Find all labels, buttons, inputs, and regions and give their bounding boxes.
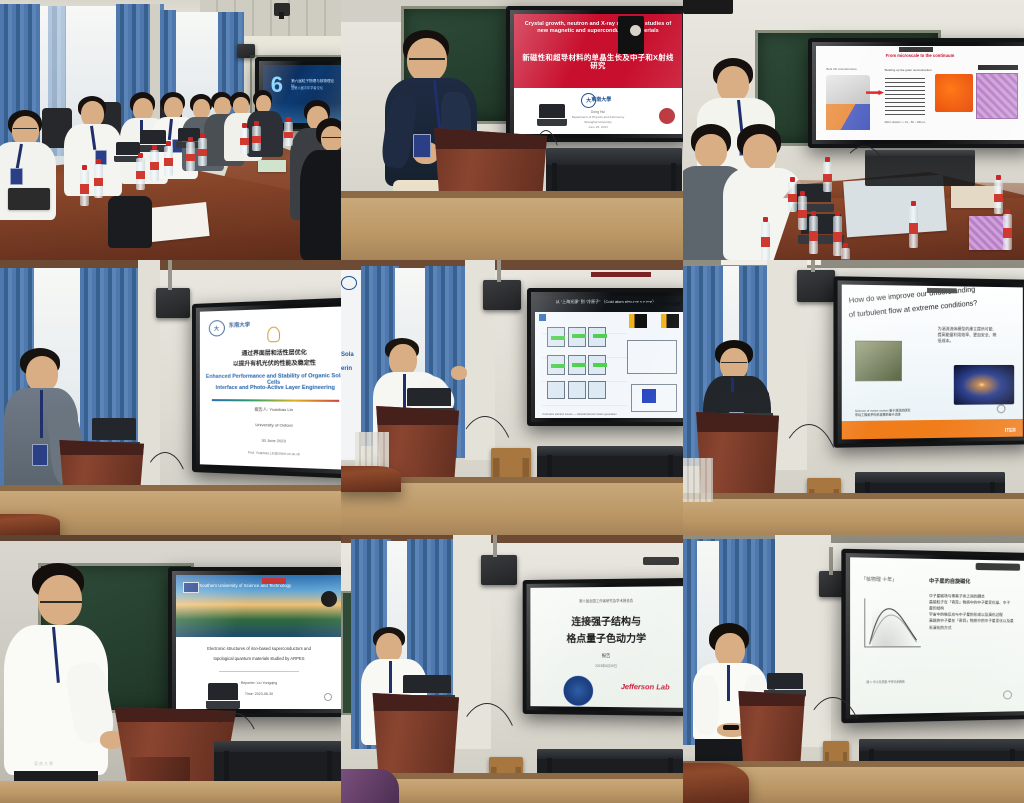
slide-hadron: 第十届全国工作者研究会学术报告会 连接强子结构与 格点量子色动力学 报告 202… <box>530 586 683 708</box>
photo-speaker-organic-solar: 大 东南大学 通过界面层和活性层优化 以提升有机光伏的性能及稳定性 Enhanc… <box>0 260 341 535</box>
display-screen: 大 东南大学 通过界面层和活性层优化 以提升有机光伏的性能及稳定性 Enhanc… <box>192 297 341 479</box>
attendee <box>308 118 341 260</box>
display-screen: Southern University of Science and Techn… <box>168 567 341 717</box>
wall-speaker-icon <box>481 555 517 585</box>
slide-presenter-cn: 报告 <box>539 653 674 659</box>
water-bottle <box>841 248 850 260</box>
collage-panel-middle-left[interactable]: 大 东南大学 通过界面层和活性层优化 以提升有机光伏的性能及稳定性 Enhanc… <box>0 260 341 535</box>
photo-speaker-hadron: 第十届全国工作者研究会学术报告会 连接强子结构与 格点量子色动力学 报告 202… <box>341 535 683 803</box>
display-screen: Crystal growth, neutron and X-ray scatte… <box>506 6 683 142</box>
slide-header-cn: 第十届全国工作者研究会学术报告会 <box>539 598 674 603</box>
slide-title-cn-1: 连接强子结构与 <box>536 617 677 629</box>
water-bottle <box>909 206 918 248</box>
slide-banner-org: Southern University of Science and Techn… <box>199 583 291 588</box>
glasses-icon <box>40 601 82 603</box>
collage-panel-bottom-center[interactable]: 第十届全国工作者研究会学术报告会 连接强子结构与 格点量子色动力学 报告 202… <box>341 535 683 803</box>
photo-speaker-cold-atom: Sola erin 从 “上海光源” 到 “冷原子” （Cold atom el… <box>341 260 683 535</box>
slide-title-cn: 新磁性和超导材料的单晶生长及中子和X射线研究 <box>521 54 676 71</box>
photo-speaker-neutron-star: 「核物理 十年」 中子星的自旋磁化 中子星磁场与等离子体之间的耦合 高能粒子在「… <box>683 535 1024 803</box>
slide-cold-atom: 从 “上海光源” 到 “冷原子” （Cold atom electron sou… <box>535 296 683 418</box>
slide-title-cn-2: 格点量子色动力学 <box>536 634 677 646</box>
slide-university: 东南大学 <box>229 321 250 329</box>
slide-header-cn: 「核物理 十年」 <box>861 576 897 583</box>
wall-speaker-icon <box>156 288 190 318</box>
glasses-icon <box>409 58 445 60</box>
slide-title-cn-1: 通过界面层和活性层优化 <box>206 349 341 358</box>
name-badge <box>32 444 48 466</box>
slide-title-en-2: topological quantum materials studied by… <box>183 657 336 662</box>
wall-speaker-icon <box>797 270 835 302</box>
glasses-icon <box>721 362 747 363</box>
slide-caption-mid: Building up the grain reconstruction <box>885 68 932 72</box>
slide-title-cn-2: 以提升有机光伏的性能及稳定性 <box>206 360 341 368</box>
collage-panel-top-right[interactable]: From microscale to the continuum Bulk 3D… <box>683 0 1024 260</box>
presenter-remote-icon <box>723 725 739 730</box>
slide-affiliation: University of Oxford <box>208 422 341 430</box>
display-screen: How do we improve our understanding of t… <box>833 276 1024 448</box>
slide-turbulence: How do we improve our understanding of t… <box>842 285 1023 440</box>
photo-conference-room: 6 第六届粒子物理与核物理论坛 暨第六届青年学者论坛 <box>0 0 341 260</box>
water-bottle <box>823 162 832 192</box>
slide-title-en: From microscale to the continuum <box>824 54 1015 59</box>
water-bottle <box>788 182 797 212</box>
water-bottle <box>761 222 770 260</box>
photo-audience-microscale: From microscale to the continuum Bulk 3D… <box>683 0 1024 260</box>
jefferson-lab-logo: Jefferson Lab <box>621 682 670 691</box>
slide-organic-solar: 大 东南大学 通过界面层和活性层优化 以提升有机光伏的性能及稳定性 Enhanc… <box>200 306 341 470</box>
water-bottle <box>994 180 1003 214</box>
display-screen: From microscale to the continuum Bulk 3D… <box>808 38 1024 148</box>
water-bottle <box>798 196 807 230</box>
photo-speaker-turbulence: How do we improve our understanding of t… <box>683 260 1024 535</box>
slide-bullet-6: 系演化的方式 <box>929 624 1018 630</box>
slide-title-en-2: Interface and Photo-Active Layer Enginee… <box>206 385 341 392</box>
photo-speaker-arpes: Southern University of Science and Techn… <box>0 535 341 803</box>
slide-sub-cn: 2023年6月30日 <box>539 664 674 668</box>
name-badge <box>413 134 431 158</box>
slide-title-en-overlay: Cold atom electron source <box>627 290 683 308</box>
wall-speaker-icon <box>483 280 521 310</box>
slide-arpes: Southern University of Science and Techn… <box>176 575 341 709</box>
slide-title-en-1: Electronic structures of iron-based supe… <box>183 647 336 652</box>
collage-panel-bottom-right[interactable]: 「核物理 十年」 中子星的自旋磁化 中子星磁场与等离子体之间的耦合 高能粒子在「… <box>683 535 1024 803</box>
slide-chart <box>865 598 922 647</box>
display-screen: 从 “上海光源” 到 “冷原子” （Cold atom electron sou… <box>527 288 683 426</box>
collage-panel-top-center[interactable]: Crystal growth, neutron and X-ray scatte… <box>341 0 683 260</box>
slide-bullet-3: 低成本。 <box>938 338 1018 344</box>
slide-presenter: 报告人: Yuanbao Lin <box>208 406 341 413</box>
slide-neutron-star: 「核物理 十年」 中子星的自旋磁化 中子星磁场与等离子体之间的耦合 高能粒子在「… <box>850 557 1024 714</box>
slide-email: Prof. Yuanbao.Lin@chem.ox.ac.uk <box>208 449 341 457</box>
collage-panel-top-left[interactable]: 6 第六届粒子物理与核物理论坛 暨第六届青年学者论坛 <box>0 0 341 260</box>
collage-panel-middle-center[interactable]: Sola erin 从 “上海光源” 到 “冷原子” （Cold atom el… <box>341 260 683 535</box>
collage-panel-middle-right[interactable]: How do we improve our understanding of t… <box>683 260 1024 535</box>
display-screen: 第十届全国工作者研究会学术报告会 连接强子结构与 格点量子色动力学 报告 202… <box>523 578 683 716</box>
water-bottle <box>809 216 818 254</box>
slide-caption-left: Bulk 3D microstructure <box>826 67 856 71</box>
slide-bullet-5: 高能的中子星在「奇异」物质中的中子星变化以及星 <box>929 618 1018 625</box>
slide-title-en: Crystal growth, neutron and X-ray scatte… <box>521 21 676 34</box>
photo-collage: 6 第六届粒子物理与核物理论坛 暨第六届青年学者论坛 <box>0 0 1024 803</box>
photo-speaker-crystal-growth: Crystal growth, neutron and X-ray scatte… <box>341 0 683 260</box>
display-screen: 「核物理 十年」 中子星的自旋磁化 中子星磁场与等离子体之间的耦合 高能粒子在「… <box>841 549 1024 724</box>
slide-title-cn: 中子星的自旋磁化 <box>929 577 970 585</box>
slide-footer-brand: ITER <box>1005 428 1016 434</box>
presenter: 東南大學 <box>4 563 112 803</box>
slide-chart-note: 图 1: 中子星质量-半径关系曲线 <box>867 679 905 684</box>
water-bottle <box>1003 214 1012 250</box>
slide-date: 30 June 2023 <box>208 437 341 445</box>
slide-bullet-5: 带动工程和学科的发展的量子流体 <box>855 413 911 418</box>
collage-panel-bottom-left[interactable]: Southern University of Science and Techn… <box>0 535 341 803</box>
laptop <box>208 683 238 709</box>
slide-microscale: From microscale to the continuum Bulk 3D… <box>816 46 1024 140</box>
jlab-seal-icon <box>563 676 593 706</box>
